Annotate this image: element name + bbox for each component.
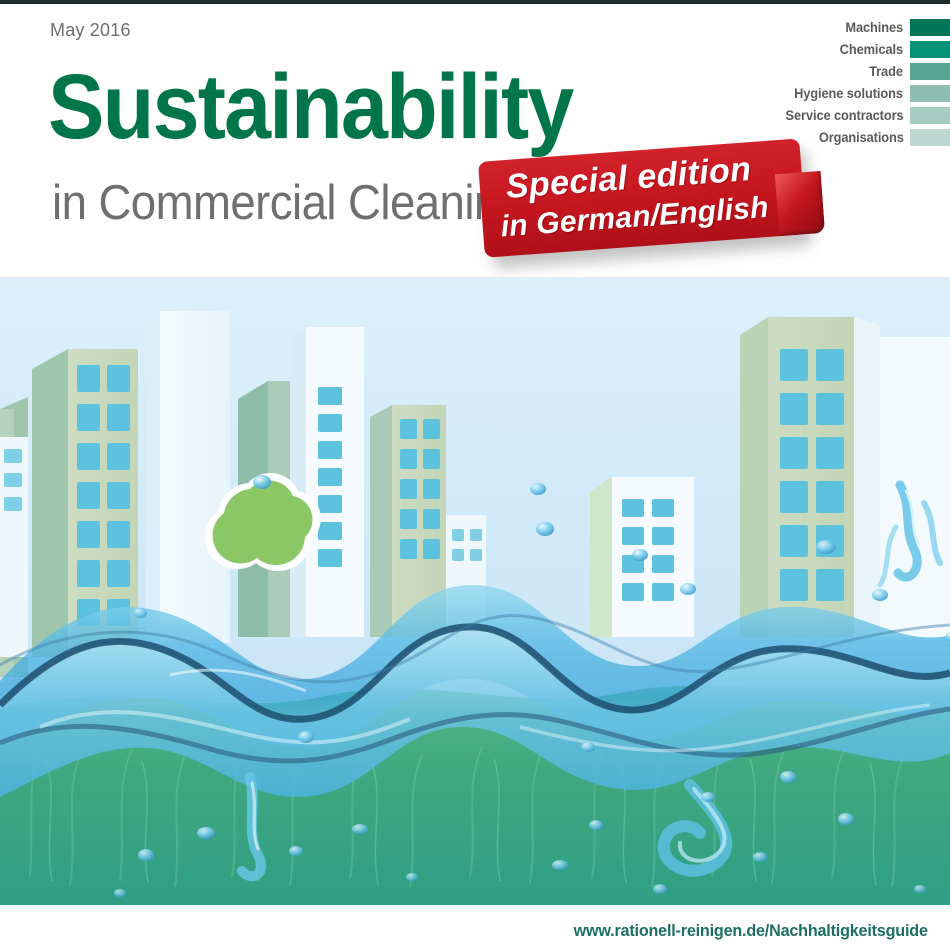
droplet <box>536 522 554 536</box>
droplet <box>114 889 126 897</box>
droplet <box>653 884 667 894</box>
legend-swatch-organisations <box>910 129 950 146</box>
legend-swatch-trade <box>910 63 950 80</box>
droplet <box>530 483 546 495</box>
droplet <box>589 820 603 830</box>
building-3-side <box>146 311 160 643</box>
droplet <box>838 813 854 825</box>
droplet <box>138 849 154 861</box>
legend-label: Machines <box>846 20 910 35</box>
legend-label: Organisations <box>818 130 910 145</box>
droplet <box>914 885 926 893</box>
legend-item-hygiene-solutions[interactable]: Hygiene solutions <box>690 84 950 102</box>
building-3-face <box>160 311 230 643</box>
legend-swatch-machines <box>910 19 950 36</box>
building-9-face <box>880 337 950 637</box>
droplet <box>632 549 648 561</box>
droplet <box>197 827 215 839</box>
legend-label: Chemicals <box>840 42 910 57</box>
page-title: Sustainability <box>48 59 573 155</box>
droplet <box>680 583 696 595</box>
droplet <box>780 771 796 783</box>
droplet <box>552 860 568 870</box>
building-2-face <box>0 437 28 657</box>
droplet <box>816 540 836 554</box>
building-6-side <box>370 405 392 637</box>
droplet <box>352 824 368 834</box>
building-5-windows <box>318 387 342 567</box>
building-8-right-face <box>854 317 880 637</box>
legend-item-trade[interactable]: Trade <box>690 62 950 80</box>
droplet <box>581 742 595 752</box>
droplet <box>253 475 271 489</box>
page-subtitle: in Commercial Cleaning <box>52 176 523 230</box>
badge-folded-corner-icon <box>775 171 825 236</box>
legend-swatch-chemicals <box>910 41 950 58</box>
legend-swatch-hygiene-solutions <box>910 85 950 102</box>
magazine-cover: May 2016 Sustainability in Commercial Cl… <box>0 0 950 951</box>
droplet <box>133 608 147 618</box>
droplet <box>289 846 303 856</box>
legend-label: Service contractors <box>785 108 910 123</box>
footer-url[interactable]: www.rationell-reinigen.de/Nachhaltigkeit… <box>574 921 928 941</box>
droplet <box>406 873 418 881</box>
building-1-side <box>32 349 68 657</box>
legend-item-chemicals[interactable]: Chemicals <box>690 40 950 58</box>
legend-item-service-contractors[interactable]: Service contractors <box>690 106 950 124</box>
issue-date: May 2016 <box>50 20 131 41</box>
category-legend: Machines Chemicals Trade Hygiene solutio… <box>690 18 950 150</box>
legend-label: Hygiene solutions <box>795 86 910 101</box>
illustration-svg <box>0 277 950 905</box>
cover-header: May 2016 Sustainability in Commercial Cl… <box>0 4 950 277</box>
legend-swatch-service-contractors <box>910 107 950 124</box>
special-edition-badge: Special edition in German/English <box>478 137 826 280</box>
cover-illustration <box>0 277 950 905</box>
cover-footer: www.rationell-reinigen.de/Nachhaltigkeit… <box>0 905 950 951</box>
droplet <box>298 731 314 743</box>
droplet <box>753 852 767 862</box>
building-5-side <box>290 327 306 637</box>
building-8-side <box>740 317 768 637</box>
legend-item-machines[interactable]: Machines <box>690 18 950 36</box>
droplet <box>872 589 888 601</box>
building-7-side <box>590 477 612 637</box>
droplet <box>701 792 715 802</box>
legend-label: Trade <box>870 64 910 79</box>
building-2-windows <box>4 449 22 511</box>
